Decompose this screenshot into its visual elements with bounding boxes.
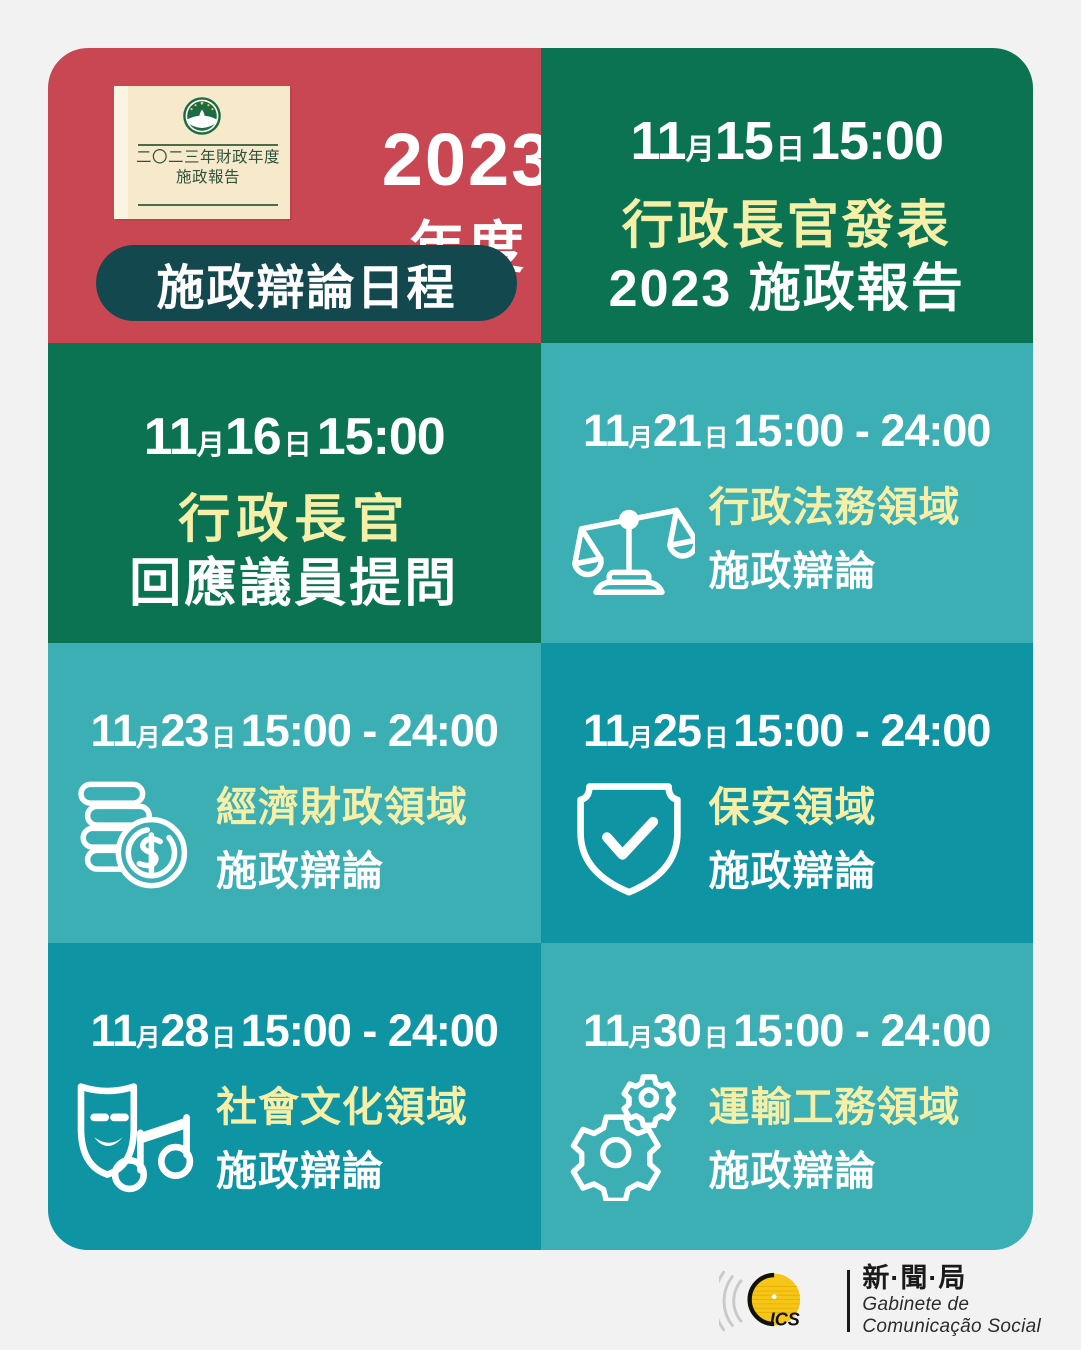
title-cell: 二〇二三年財政年度 施政報告 2023 年度 施政辯論日程 bbox=[48, 48, 541, 343]
event-body-1125: 保安領域 施政辯論 bbox=[563, 769, 1020, 901]
time-range: 15:00 - 24:00 bbox=[733, 1005, 990, 1056]
event-cell-1128: 11月28日15:00 - 24:00 社會文化領域 bbox=[48, 943, 541, 1250]
book-cover-line1: 二〇二三年財政年度 bbox=[136, 148, 280, 168]
event-text-1128: 社會文化領域 施政辯論 bbox=[216, 1073, 527, 1197]
day-num: 25 bbox=[653, 705, 701, 756]
policy-report-book-cover: 二〇二三年財政年度 施政報告 bbox=[114, 86, 290, 219]
event-subtitle-1115: 2023 施政報告 bbox=[541, 246, 1034, 321]
day-unit: 日 bbox=[704, 725, 727, 752]
time-range: 15:00 - 24:00 bbox=[733, 705, 990, 756]
event-title-1130: 運輸工務領域 bbox=[709, 1073, 1020, 1133]
event-cell-1121: 11月21日15:00 - 24:00 bbox=[541, 343, 1034, 643]
logo-text-block: 新·聞·局 Gabinete de Comunicação Social bbox=[862, 1264, 1041, 1338]
theatre-mask-music-icon bbox=[70, 1069, 202, 1201]
month-num: 11 bbox=[583, 405, 629, 456]
time-range: 15:00 - 24:00 bbox=[241, 705, 498, 756]
poster-root: 二〇二三年財政年度 施政報告 2023 年度 施政辯論日程 11月15日15:0… bbox=[0, 0, 1081, 1350]
event-cell-1115: 11月15日15:00 行政長官發表 2023 施政報告 bbox=[541, 48, 1034, 343]
event-date-1128: 11月28日15:00 - 24:00 bbox=[48, 1005, 541, 1057]
event-body-1128: 社會文化領域 施政辯論 bbox=[70, 1069, 527, 1201]
event-date-1115: 11月15日15:00 bbox=[541, 110, 1034, 172]
event-subtitle-1128: 施政辯論 bbox=[216, 1137, 527, 1197]
macao-sar-emblem-icon bbox=[182, 96, 222, 136]
book-spine bbox=[114, 86, 128, 219]
event-cell-1116: 11月16日15:00 行政長官 回應議員提問 bbox=[48, 343, 541, 643]
event-subtitle-1123: 施政辯論 bbox=[216, 837, 527, 897]
logo-name-pt-line2: Comunicação Social bbox=[862, 1317, 1041, 1338]
event-date-1123: 11月23日15:00 - 24:00 bbox=[48, 705, 541, 757]
event-text-1123: 經濟財政領域 施政辯論 bbox=[216, 773, 527, 897]
day-num: 15 bbox=[715, 111, 773, 171]
month-num: 11 bbox=[144, 408, 197, 466]
day-num: 16 bbox=[225, 408, 281, 466]
day-unit: 日 bbox=[211, 1025, 234, 1052]
month-num: 11 bbox=[91, 1005, 137, 1056]
event-subtitle-1116: 回應議員提問 bbox=[48, 541, 541, 616]
event-text-1130: 運輸工務領域 施政辯論 bbox=[709, 1073, 1020, 1197]
schedule-badge: 施政辯論日程 bbox=[96, 245, 517, 321]
event-cell-1123: 11月23日15:00 - 24:00 經濟財 bbox=[48, 643, 541, 943]
day-unit: 日 bbox=[776, 134, 804, 166]
book-rule-top bbox=[138, 144, 278, 146]
logo-name-pt-line1: Gabinete de bbox=[862, 1295, 1041, 1316]
book-cover-line2: 施政報告 bbox=[136, 168, 280, 188]
day-unit: 日 bbox=[704, 425, 727, 452]
event-subtitle-1130: 施政辯論 bbox=[709, 1137, 1020, 1197]
event-body-1130: 運輸工務領域 施政辯論 bbox=[563, 1069, 1020, 1201]
footer-logo: ICS 新·聞·局 Gabinete de Comunicação Social bbox=[719, 1264, 1041, 1338]
day-num: 21 bbox=[653, 405, 701, 456]
time-range: 15:00 bbox=[810, 111, 943, 171]
year-number: 2023 bbox=[348, 126, 541, 194]
month-unit: 月 bbox=[629, 425, 652, 452]
event-body-1123: 經濟財政領域 施政辯論 bbox=[70, 769, 527, 901]
book-rule-bottom bbox=[138, 204, 278, 206]
month-num: 11 bbox=[583, 1005, 629, 1056]
month-num: 11 bbox=[583, 705, 629, 756]
event-text-1121: 行政法務領域 施政辯論 bbox=[709, 473, 1020, 597]
time-range: 15:00 bbox=[317, 408, 445, 466]
scales-of-justice-icon bbox=[563, 469, 695, 601]
schedule-card: 二〇二三年財政年度 施政報告 2023 年度 施政辯論日程 11月15日15:0… bbox=[48, 48, 1033, 1250]
event-cell-1130: 11月30日15:00 - 24:00 bbox=[541, 943, 1034, 1250]
month-unit: 月 bbox=[136, 1025, 159, 1052]
day-num: 23 bbox=[160, 705, 208, 756]
month-unit: 月 bbox=[686, 134, 714, 166]
logo-divider bbox=[847, 1270, 850, 1332]
schedule-badge-label: 施政辯論日程 bbox=[156, 248, 456, 318]
day-unit: 日 bbox=[284, 429, 311, 460]
event-title-1123: 經濟財政領域 bbox=[216, 773, 527, 833]
month-unit: 月 bbox=[629, 725, 652, 752]
gcs-signal-logo-icon: ICS bbox=[719, 1265, 835, 1337]
event-date-1116: 11月16日15:00 bbox=[48, 407, 541, 467]
book-cover-text: 二〇二三年財政年度 施政報告 bbox=[136, 148, 280, 188]
shield-check-icon bbox=[563, 769, 695, 901]
month-num: 11 bbox=[91, 705, 137, 756]
logo-name-cn: 新·聞·局 bbox=[862, 1264, 1041, 1293]
event-text-1125: 保安領域 施政辯論 bbox=[709, 773, 1020, 897]
gears-icon bbox=[563, 1069, 695, 1201]
month-num: 11 bbox=[630, 111, 685, 171]
month-unit: 月 bbox=[629, 1025, 652, 1052]
event-cell-1125: 11月25日15:00 - 24:00 保安領域 施政辯論 bbox=[541, 643, 1034, 943]
event-title-1125: 保安領域 bbox=[709, 773, 1020, 833]
event-date-1125: 11月25日15:00 - 24:00 bbox=[541, 705, 1034, 757]
day-unit: 日 bbox=[704, 1025, 727, 1052]
event-title-1121: 行政法務領域 bbox=[709, 473, 1020, 533]
event-title-1128: 社會文化領域 bbox=[216, 1073, 527, 1133]
day-num: 28 bbox=[160, 1005, 208, 1056]
month-unit: 月 bbox=[136, 725, 159, 752]
month-unit: 月 bbox=[197, 429, 224, 460]
event-subtitle-1125: 施政辯論 bbox=[709, 837, 1020, 897]
time-range: 15:00 - 24:00 bbox=[241, 1005, 498, 1056]
day-num: 30 bbox=[653, 1005, 701, 1056]
event-date-1121: 11月21日15:00 - 24:00 bbox=[541, 405, 1034, 457]
event-body-1121: 行政法務領域 施政辯論 bbox=[563, 469, 1020, 601]
event-date-1130: 11月30日15:00 - 24:00 bbox=[541, 1005, 1034, 1057]
svg-text:ICS: ICS bbox=[770, 1309, 800, 1329]
time-range: 15:00 - 24:00 bbox=[733, 405, 990, 456]
coins-dollar-icon bbox=[70, 769, 202, 901]
event-subtitle-1121: 施政辯論 bbox=[709, 537, 1020, 597]
day-unit: 日 bbox=[211, 725, 234, 752]
